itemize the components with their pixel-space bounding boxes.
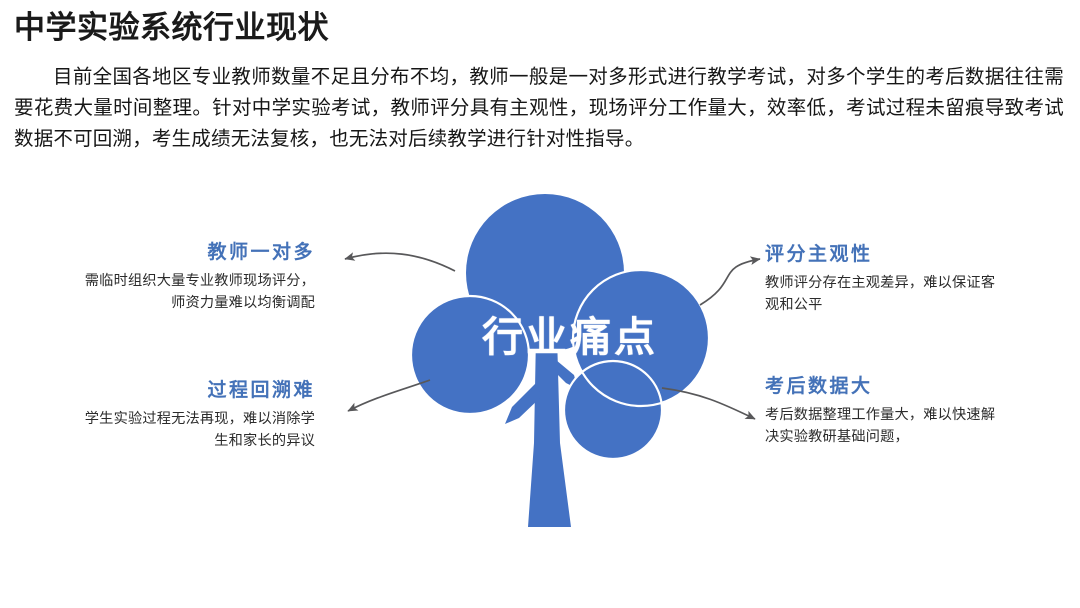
tree-illustration <box>0 175 1080 555</box>
callout-title: 过程回溯难 <box>80 378 315 404</box>
callout-description: 考后数据整理工作量大，难以快速解决实验教研基础问题， <box>765 404 1000 448</box>
callout-title: 评分主观性 <box>765 242 1000 268</box>
callout-title: 教师一对多 <box>80 240 315 266</box>
callout-description: 学生实验过程无法再现，难以消除学生和家长的异议 <box>80 408 315 452</box>
callout-process-traceability: 过程回溯难 学生实验过程无法再现，难以消除学生和家长的异议 <box>80 378 315 452</box>
callout-post-exam-data: 考后数据大 考后数据整理工作量大，难以快速解决实验教研基础问题， <box>765 374 1000 448</box>
intro-paragraph: 目前全国各地区专业教师数量不足且分布不均，教师一般是一对多形式进行教学考试，对多… <box>14 62 1064 155</box>
page-title: 中学实验系统行业现状 <box>14 2 329 47</box>
callout-title: 考后数据大 <box>765 374 1000 400</box>
callout-scoring-subjectivity: 评分主观性 教师评分存在主观差异，难以保证客观和公平 <box>765 242 1000 316</box>
arrow-to-top-right <box>700 259 760 305</box>
callout-teacher-one-to-many: 教师一对多 需临时组织大量专业教师现场评分，师资力量难以均衡调配 <box>80 240 315 314</box>
callout-description: 教师评分存在主观差异，难以保证客观和公平 <box>765 272 1000 316</box>
callout-description: 需临时组织大量专业教师现场评分，师资力量难以均衡调配 <box>80 270 315 314</box>
arrow-to-bottom-left <box>348 380 430 411</box>
pain-points-diagram: 行业痛点 <box>0 175 1080 555</box>
arrow-to-top-left <box>345 253 455 271</box>
